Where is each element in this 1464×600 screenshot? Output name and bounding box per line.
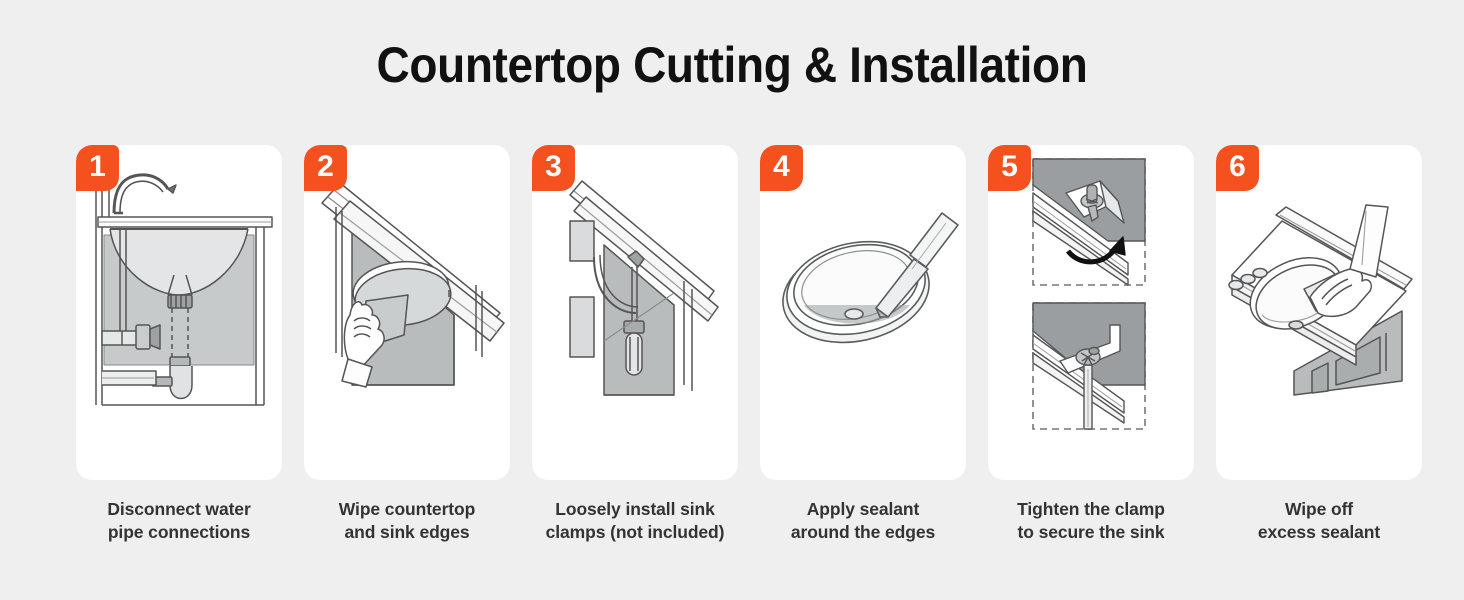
- step-number-badge: 5: [988, 145, 1031, 191]
- caption-line-1: Loosely install sink: [520, 498, 750, 521]
- caption-line-1: Disconnect water: [64, 498, 294, 521]
- step-card-2: 2: [304, 145, 510, 544]
- step-caption: Tighten the clamp to secure the sink: [976, 498, 1206, 544]
- detail-panel-bottom: [1033, 303, 1145, 429]
- step-caption: Loosely install sink clamps (not include…: [520, 498, 750, 544]
- steps-row: 1: [76, 145, 1388, 544]
- step-number-badge: 4: [760, 145, 803, 191]
- step-card-6: 6: [1216, 145, 1422, 544]
- caption-line-2: excess sealant: [1204, 521, 1434, 544]
- caption-line-2: and sink edges: [292, 521, 522, 544]
- step-number-badge: 3: [532, 145, 575, 191]
- step-image-card: 4: [760, 145, 966, 480]
- caption-line-1: Tighten the clamp: [976, 498, 1206, 521]
- step-card-1: 1: [76, 145, 282, 544]
- infographic-page: Countertop Cutting & Installation 1: [0, 0, 1464, 600]
- hand-wiping-installed-sink-illustration: [1216, 145, 1422, 480]
- step-card-3: 3: [532, 145, 738, 544]
- caption-line-2: pipe connections: [64, 521, 294, 544]
- step-card-4: 4: [760, 145, 966, 544]
- caulk-gun-sealant-ring-illustration: [760, 145, 966, 480]
- step-caption: Disconnect water pipe connections: [64, 498, 294, 544]
- caption-line-1: Wipe countertop: [292, 498, 522, 521]
- step-number-badge: 6: [1216, 145, 1259, 191]
- caption-line-1: Wipe off: [1204, 498, 1434, 521]
- step-image-card: 5: [988, 145, 1194, 480]
- sink-clamp-hanging-bolt-illustration: [532, 145, 738, 480]
- step-caption: Wipe off excess sealant: [1204, 498, 1434, 544]
- hand-wiping-countertop-underside-illustration: [304, 145, 510, 480]
- step-image-card: 2: [304, 145, 510, 480]
- caption-line-1: Apply sealant: [748, 498, 978, 521]
- step-caption: Apply sealant around the edges: [748, 498, 978, 544]
- step-caption: Wipe countertop and sink edges: [292, 498, 522, 544]
- caption-line-2: clamps (not included): [520, 521, 750, 544]
- page-title: Countertop Cutting & Installation: [59, 36, 1406, 94]
- step-image-card: 1: [76, 145, 282, 480]
- step-number-badge: 1: [76, 145, 119, 191]
- step-card-5: 5: [988, 145, 1194, 544]
- sink-plumbing-cross-section-illustration: [76, 145, 282, 480]
- step-image-card: 6: [1216, 145, 1422, 480]
- clamp-rotate-and-screwdriver-detail-illustration: [988, 145, 1194, 480]
- step-number-badge: 2: [304, 145, 347, 191]
- caption-line-2: to secure the sink: [976, 521, 1206, 544]
- step-image-card: 3: [532, 145, 738, 480]
- detail-panel-top: [1033, 159, 1145, 285]
- caption-line-2: around the edges: [748, 521, 978, 544]
